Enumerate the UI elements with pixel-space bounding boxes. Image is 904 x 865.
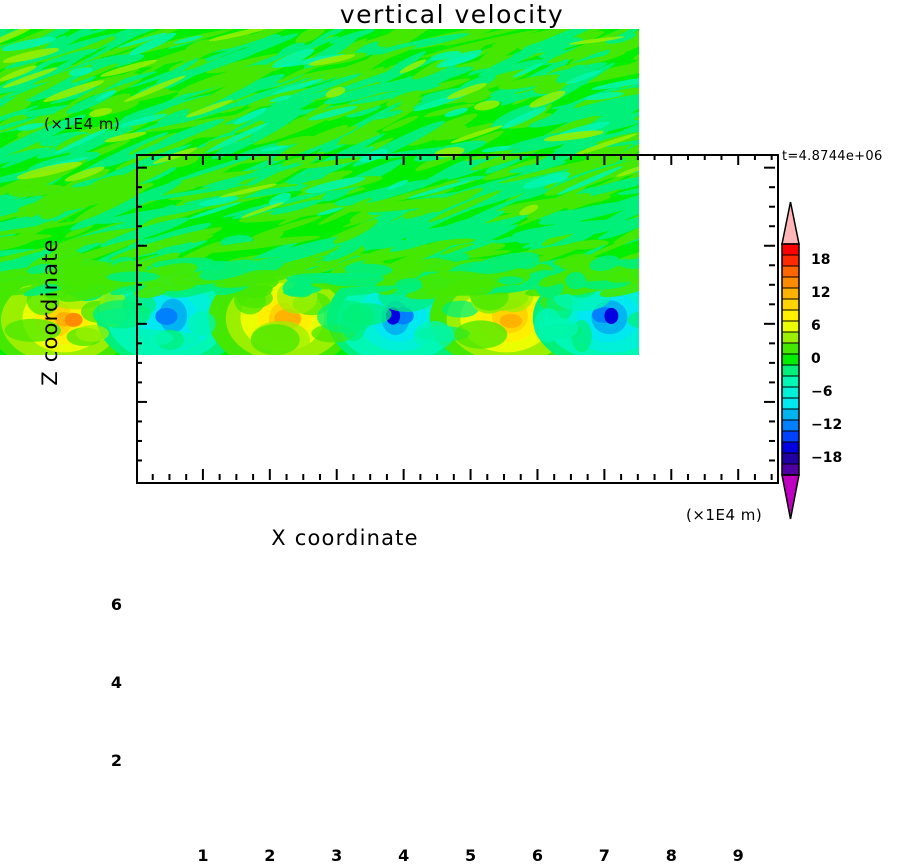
x-tick-label: 8 [651,846,691,865]
colorbar-tick-labels: 181260−6−12−18 [0,0,904,654]
x-tick-label: 6 [517,846,557,865]
colorbar-tick-label: −6 [811,384,832,400]
y-tick-label: 4 [90,673,122,692]
colorbar-tick-label: −12 [811,417,842,433]
colorbar-tick-label: 0 [811,351,821,367]
x-tick-label: 5 [451,846,491,865]
x-tick-label: 4 [384,846,424,865]
colorbar-tick-label: 6 [811,318,821,334]
x-tick-label: 9 [718,846,758,865]
colorbar-tick-label: −18 [811,450,842,466]
colorbar-tick-label: 12 [811,285,830,301]
y-tick-label: 2 [90,751,122,770]
x-tick-label: 2 [250,846,290,865]
colorbar-tick-label: 18 [811,252,830,268]
x-tick-label: 3 [317,846,357,865]
x-tick-label: 7 [584,846,624,865]
x-tick-label: 1 [183,846,223,865]
